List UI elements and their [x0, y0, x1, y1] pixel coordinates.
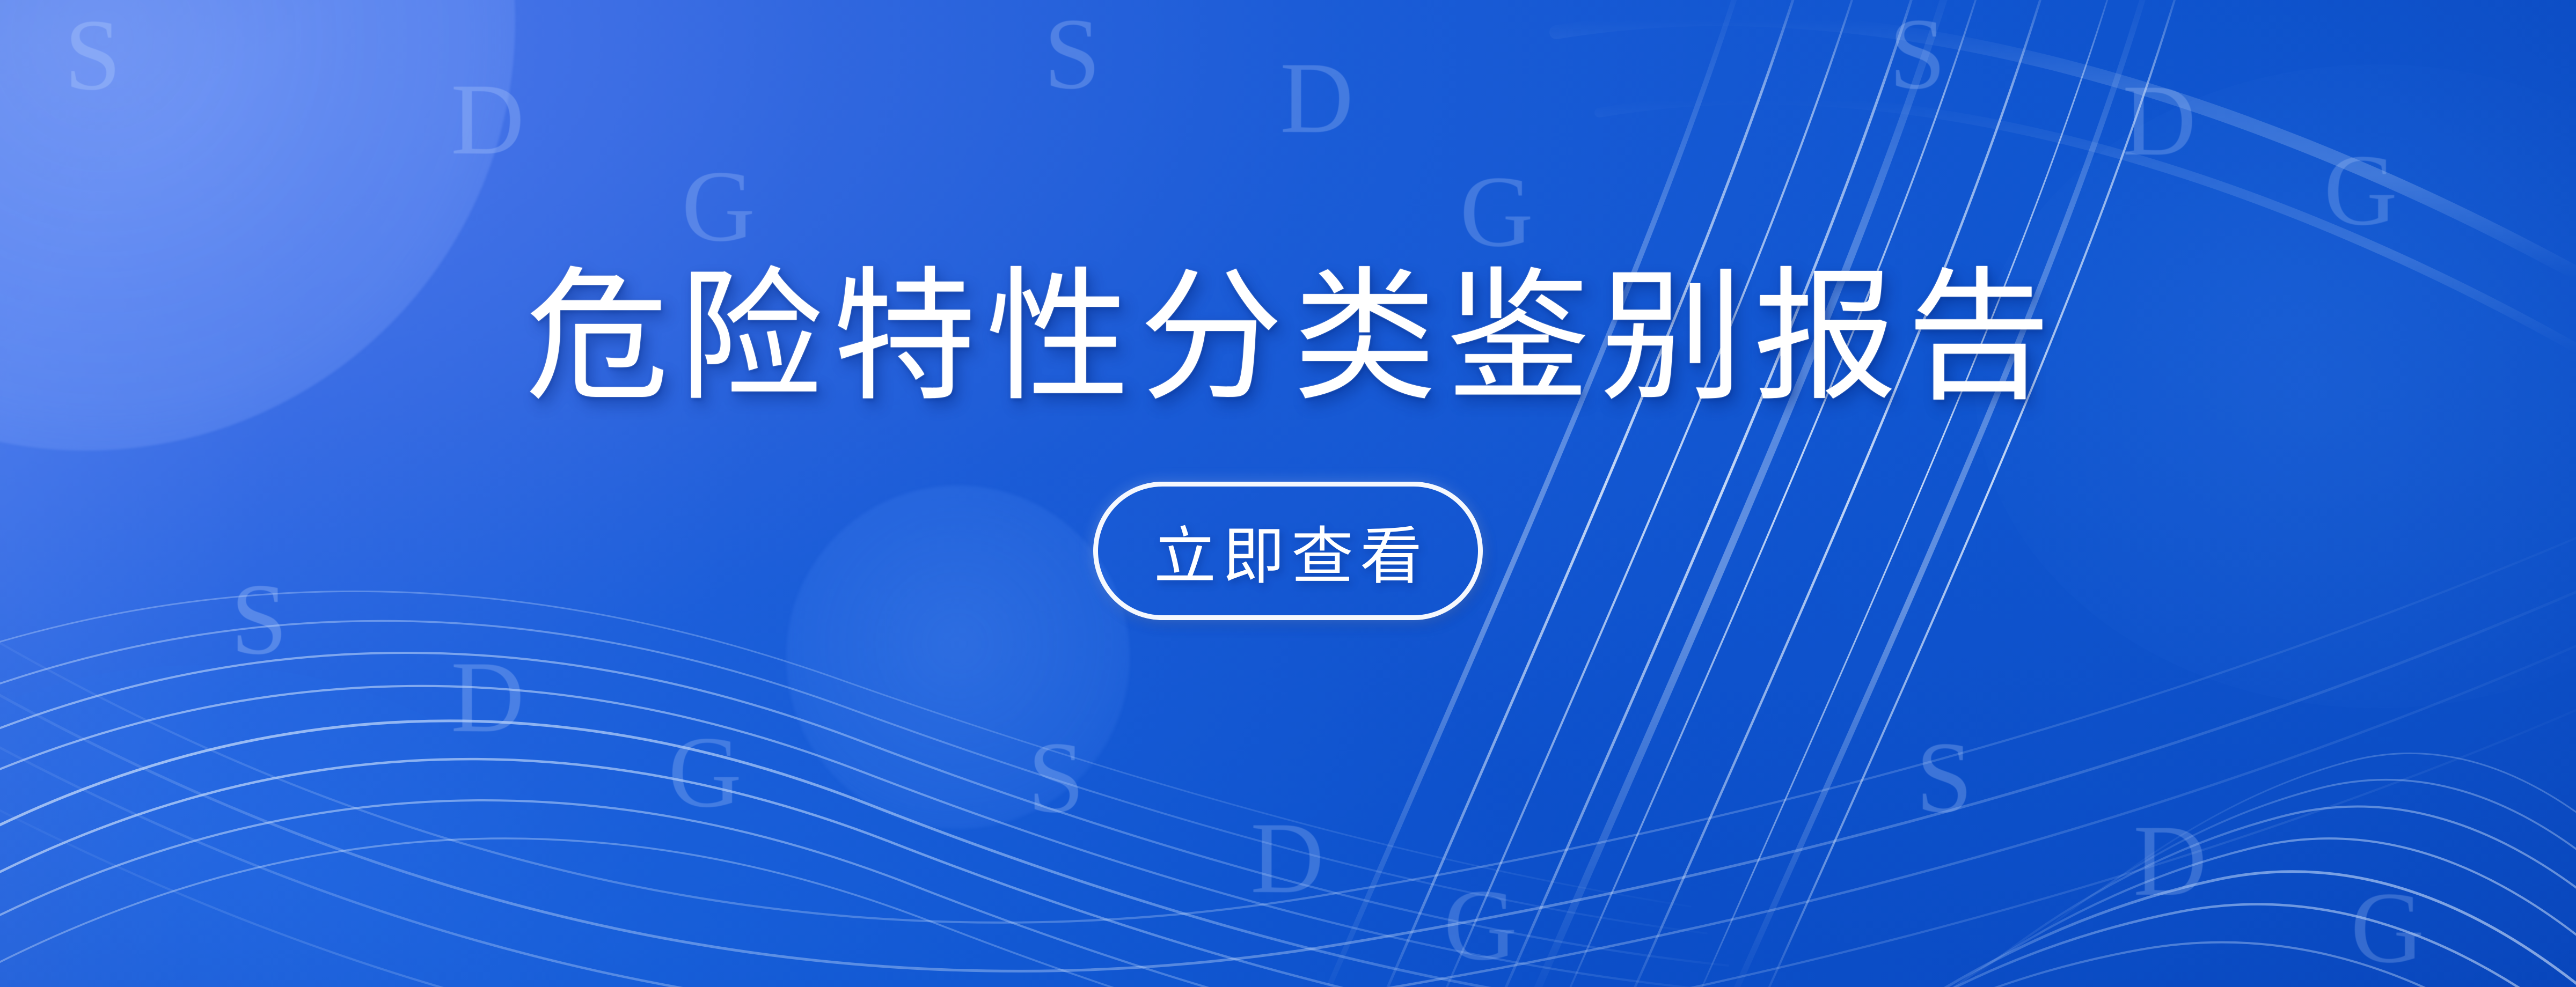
view-now-button[interactable]: 立即查看 [1093, 482, 1483, 620]
banner-content: 危险特性分类鉴别报告 立即查看 [0, 0, 2576, 987]
page-title: 危险特性分类鉴别报告 [516, 252, 2060, 422]
promo-banner: SDGSDGSDGSDGSDGSDG 危险特性分类鉴别报告 立即查看 [0, 0, 2576, 987]
